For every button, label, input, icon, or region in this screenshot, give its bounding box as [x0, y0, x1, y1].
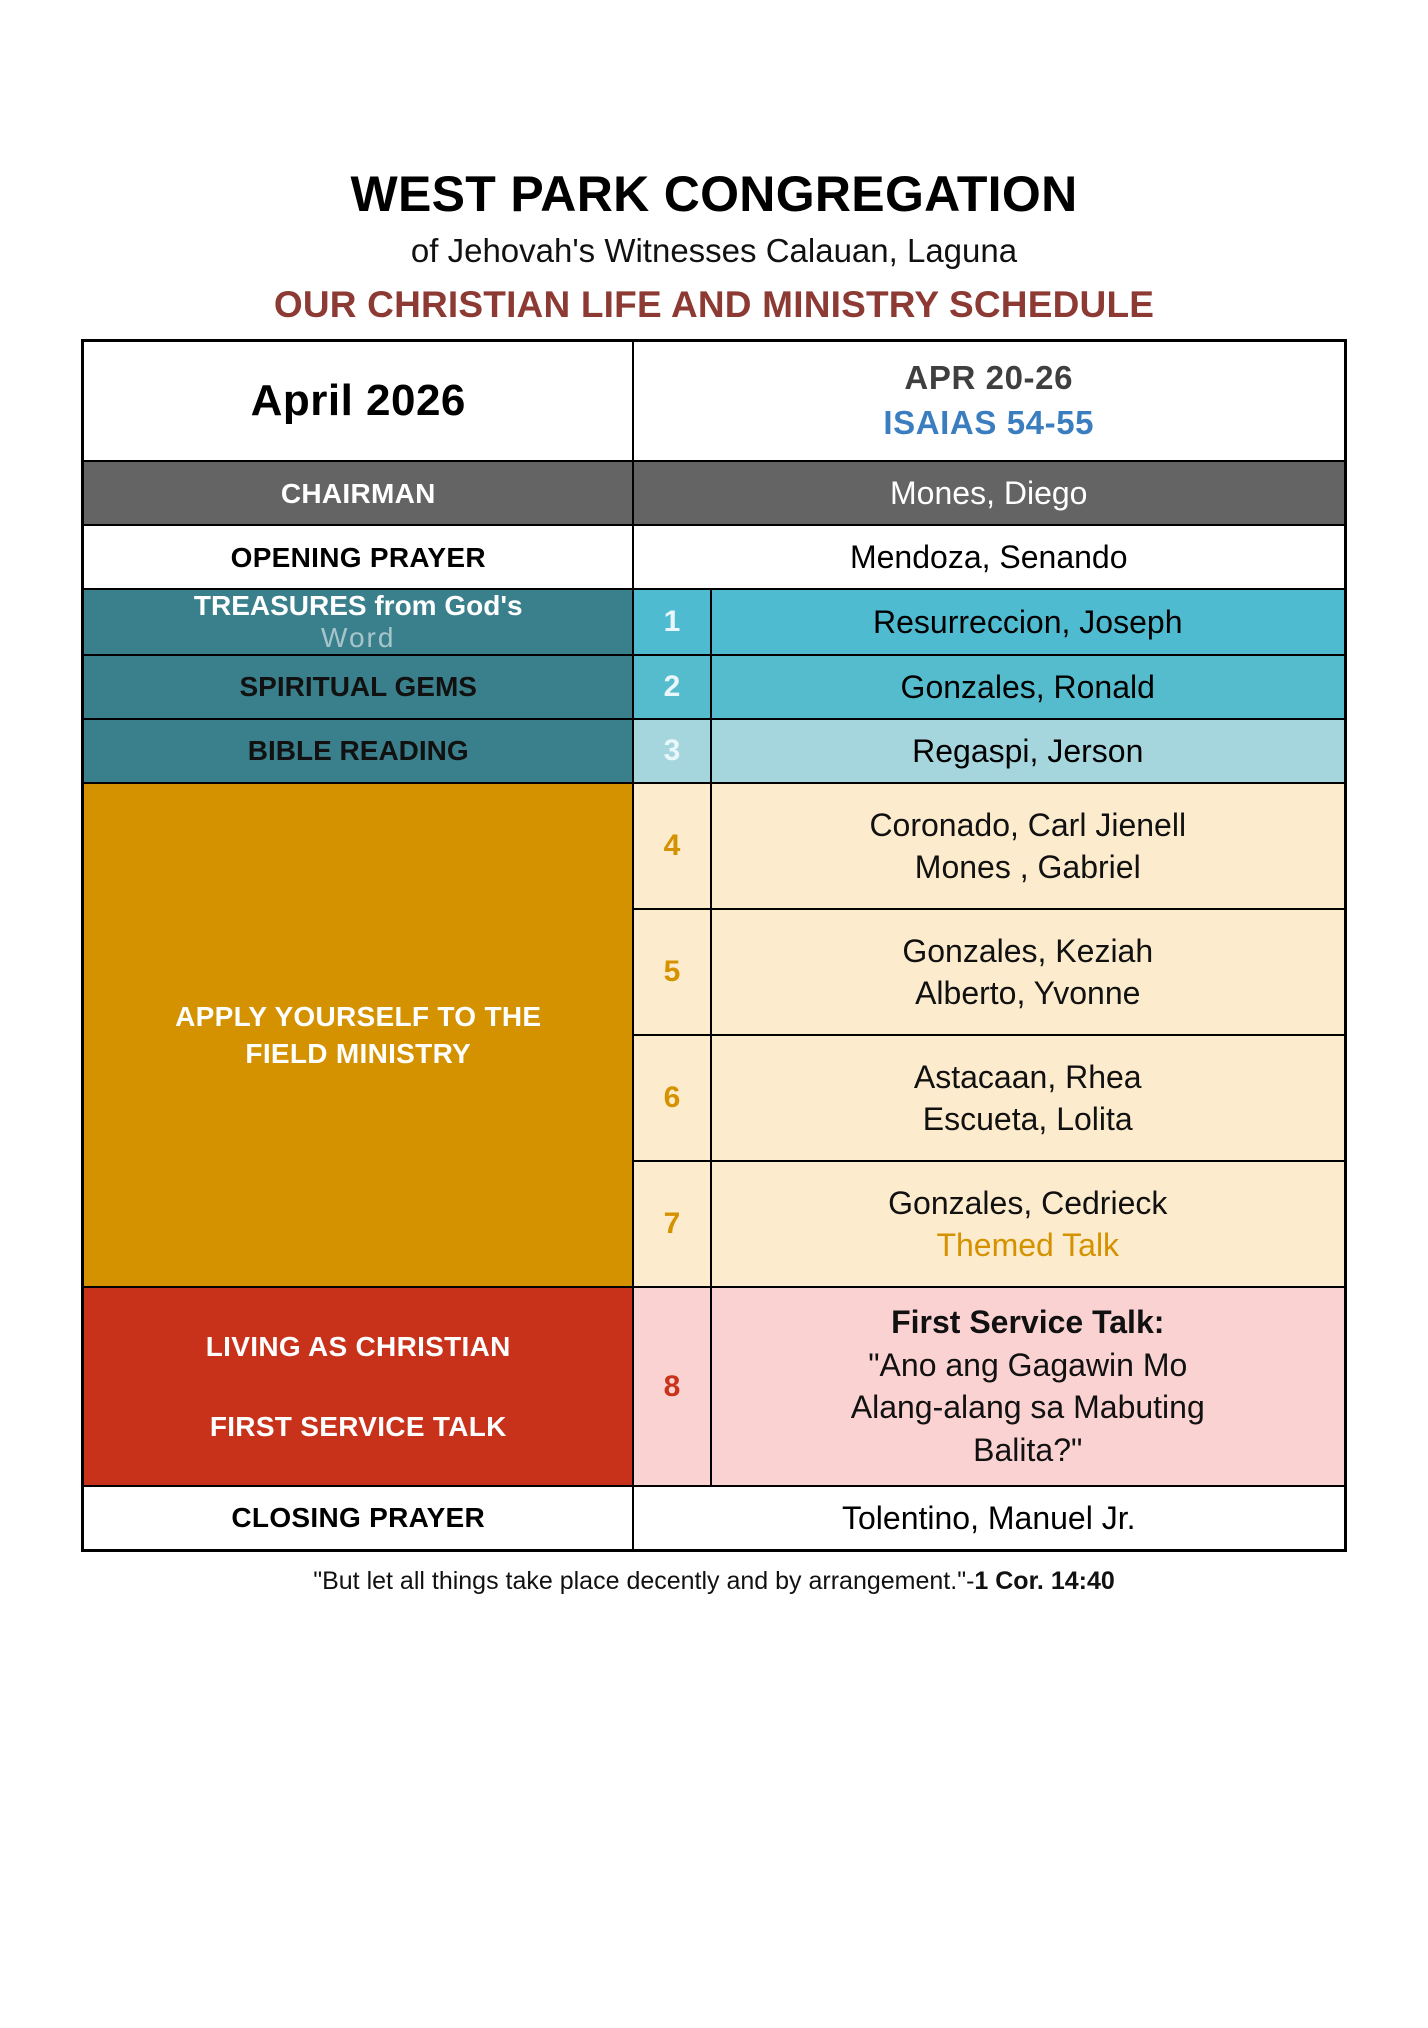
living-as-christian-label: LIVING AS CHRISTIAN FIRST SERVICE TALK [83, 1287, 633, 1485]
week-cell: APR 20-26 ISAIAS 54-55 [633, 341, 1345, 462]
item-value-4-line2: Mones , Gabriel [712, 846, 1344, 888]
table-row-chairman: CHAIRMAN Mones, Diego [83, 461, 1345, 525]
first-service-talk-line3: Balita?" [722, 1429, 1334, 1471]
page-header: WEST PARK CONGREGATION of Jehovah's Witn… [0, 0, 1428, 325]
item-number-5: 5 [633, 909, 711, 1035]
item-number-4: 4 [633, 783, 711, 909]
field-ministry-label: APPLY YOURSELF TO THE FIELD MINISTRY [83, 783, 633, 1287]
item-value-8: First Service Talk: "Ano ang Gagawin Mo … [711, 1287, 1345, 1485]
item-value-5-line2: Alberto, Yvonne [712, 972, 1344, 1014]
table-row-living-as-christian: LIVING AS CHRISTIAN FIRST SERVICE TALK 8… [83, 1287, 1345, 1485]
opening-prayer-value: Mendoza, Senando [633, 525, 1345, 589]
item-number-1: 1 [633, 589, 711, 655]
table-row-closing-prayer: CLOSING PRAYER Tolentino, Manuel Jr. [83, 1486, 1345, 1551]
item-value-4: Coronado, Carl Jienell Mones , Gabriel [711, 783, 1345, 909]
congregation-name: WEST PARK CONGREGATION [0, 168, 1428, 221]
item-value-4-line1: Coronado, Carl Jienell [712, 804, 1344, 846]
item-value-7-line1: Gonzales, Cedrieck [712, 1182, 1344, 1224]
closing-prayer-label: CLOSING PRAYER [83, 1486, 633, 1551]
item-number-7: 7 [633, 1161, 711, 1287]
item-number-8: 8 [633, 1287, 711, 1485]
living-as-christian-line2: FIRST SERVICE TALK [92, 1410, 624, 1444]
item-number-3: 3 [633, 719, 711, 783]
spiritual-gems-label: SPIRITUAL GEMS [83, 655, 633, 719]
table-row-ministry-4: APPLY YOURSELF TO THE FIELD MINISTRY 4 C… [83, 783, 1345, 909]
item-number-2: 2 [633, 655, 711, 719]
field-ministry-label-line1: APPLY YOURSELF TO THE [84, 998, 632, 1036]
chairman-label: CHAIRMAN [83, 461, 633, 525]
living-as-christian-line1: LIVING AS CHRISTIAN [92, 1330, 624, 1364]
first-service-talk-heading: First Service Talk: [722, 1302, 1334, 1344]
table-row-bible-reading: BIBLE READING 3 Regaspi, Jerson [83, 719, 1345, 783]
item-value-5-line1: Gonzales, Keziah [712, 930, 1344, 972]
item-value-6-line2: Escueta, Lolita [712, 1098, 1344, 1140]
closing-prayer-value: Tolentino, Manuel Jr. [633, 1486, 1345, 1551]
table-row-spiritual-gems: SPIRITUAL GEMS 2 Gonzales, Ronald [83, 655, 1345, 719]
treasures-label-rest: from God's [367, 590, 523, 621]
item-value-2: Gonzales, Ronald [711, 655, 1345, 719]
item-value-3: Regaspi, Jerson [711, 719, 1345, 783]
first-service-talk-line1: "Ano ang Gagawin Mo [722, 1344, 1334, 1386]
item-value-7-line2: Themed Talk [712, 1224, 1344, 1266]
bible-reading-label: BIBLE READING [83, 719, 633, 783]
treasures-label-bold: TREASURES [194, 590, 367, 621]
week-scripture: ISAIAS 54-55 [634, 402, 1344, 443]
table-row-date: April 2026 APR 20-26 ISAIAS 54-55 [83, 341, 1345, 462]
field-ministry-label-line2: FIELD MINISTRY [84, 1035, 632, 1073]
chairman-value: Mones, Diego [633, 461, 1345, 525]
item-value-7: Gonzales, Cedrieck Themed Talk [711, 1161, 1345, 1287]
item-value-5: Gonzales, Keziah Alberto, Yvonne [711, 909, 1345, 1035]
footer-citation: 1 Cor. 14:40 [974, 1567, 1114, 1595]
schedule-page: WEST PARK CONGREGATION of Jehovah's Witn… [0, 0, 1428, 2028]
table-row-opening-prayer: OPENING PRAYER Mendoza, Senando [83, 525, 1345, 589]
item-value-1: Resurreccion, Joseph [711, 589, 1345, 655]
footer-quote: "But let all things take place decently … [313, 1567, 974, 1595]
opening-prayer-label: OPENING PRAYER [83, 525, 633, 589]
item-number-6: 6 [633, 1035, 711, 1161]
label-spacer [92, 1364, 624, 1410]
item-value-6: Astacaan, Rhea Escueta, Lolita [711, 1035, 1345, 1161]
footer-scripture: "But let all things take place decently … [83, 1566, 1345, 1597]
schedule-table: April 2026 APR 20-26 ISAIAS 54-55 CHAIRM… [81, 339, 1346, 1551]
first-service-talk-line2: Alang-alang sa Mabuting [722, 1386, 1334, 1428]
item-value-6-line1: Astacaan, Rhea [712, 1056, 1344, 1098]
page-title: OUR CHRISTIAN LIFE AND MINISTRY SCHEDULE [0, 285, 1428, 326]
month-cell: April 2026 [83, 341, 633, 462]
week-range: APR 20-26 [634, 357, 1344, 398]
congregation-subtitle: of Jehovah's Witnesses Calauan, Laguna [0, 233, 1428, 269]
treasures-label: TREASURES from God's Word [83, 589, 633, 655]
table-row-treasures: TREASURES from God's Word 1 Resurreccion… [83, 589, 1345, 655]
treasures-label-word: Word [84, 622, 632, 654]
